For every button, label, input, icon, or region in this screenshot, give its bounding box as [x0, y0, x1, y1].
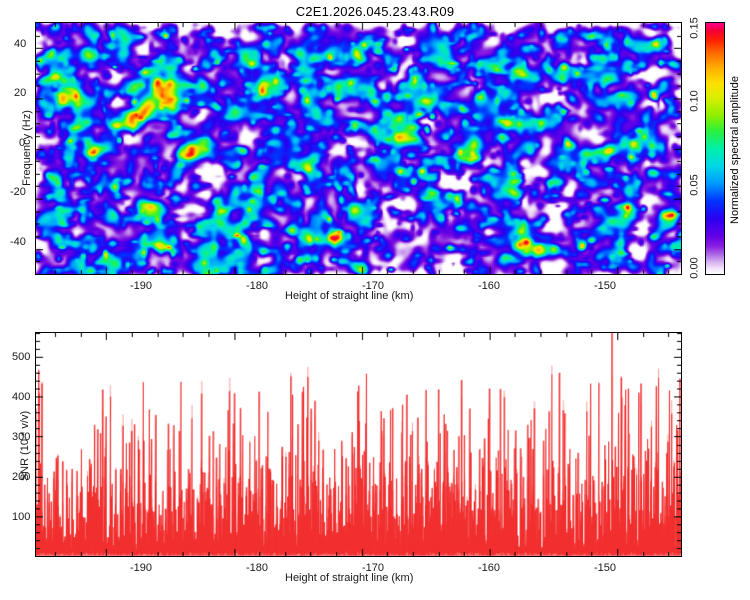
spectrogram-x-axis-title: Height of straight line (km) — [285, 290, 413, 302]
colorbar-axis-title: Normalized spectral amplitude — [729, 76, 741, 224]
colorbar-tick-label-1: 0.05 — [689, 174, 701, 195]
snr-trace — [36, 333, 681, 556]
snr-x-axis-title: Height of straight line (km) — [285, 572, 413, 584]
colorbar-tick-label-2: 0.10 — [689, 90, 701, 111]
snr-xtick-label-1: -180 — [246, 562, 268, 574]
snr-xtick-label-3: -160 — [478, 562, 500, 574]
snr-xtick-label-0: -190 — [130, 562, 152, 574]
spectrogram-panel — [35, 22, 682, 275]
spectrogram-y-axis-title: Frequency (Hz) — [21, 93, 33, 203]
spec-xtick-label-0: -190 — [130, 280, 152, 292]
spectrogram-image — [36, 23, 681, 274]
snr-ytick-label-4: 500 — [12, 351, 30, 363]
snr-panel — [35, 332, 682, 557]
colorbar — [705, 22, 725, 275]
spec-ytick-label-0: -40 — [10, 236, 26, 248]
snr-xtick-label-4: -150 — [594, 562, 616, 574]
page-title: C2E1.2026.045.23.43.R09 — [0, 4, 750, 19]
spec-xtick-label-4: -150 — [594, 280, 616, 292]
snr-ytick-label-0: 100 — [12, 511, 30, 523]
spec-xtick-label-3: -160 — [478, 280, 500, 292]
colorbar-tick-label-3: 0.15 — [689, 17, 701, 38]
figure-root: C2E1.2026.045.23.43.R09 -40 -20 0 20 40 … — [0, 0, 750, 600]
snr-y-axis-title: SNR (10 * v/v) — [19, 391, 31, 501]
spec-ytick-label-4: 40 — [14, 38, 26, 50]
spec-xtick-label-1: -180 — [246, 280, 268, 292]
colorbar-tick-label-0: 0.00 — [689, 257, 701, 278]
